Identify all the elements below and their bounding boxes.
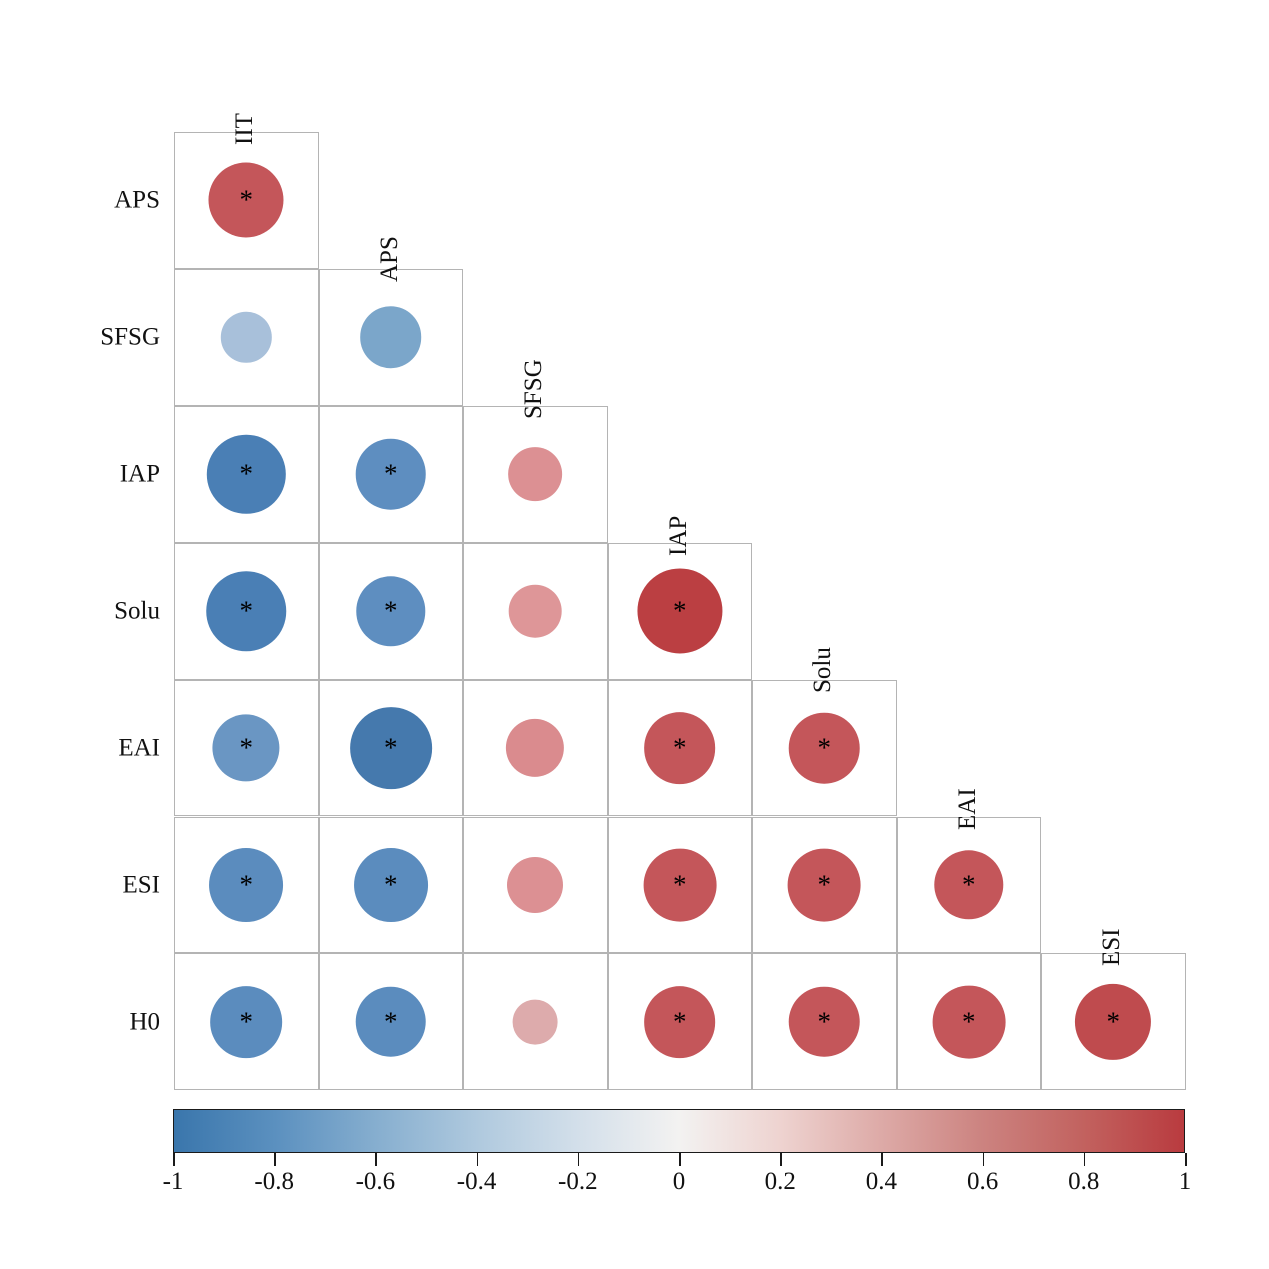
colorbar-tick-label: 0.6 — [967, 1169, 998, 1194]
colorbar-tick — [1185, 1153, 1187, 1166]
correlation-circle — [355, 987, 426, 1058]
matrix-cell[interactable]: * — [1041, 953, 1186, 1090]
correlation-circle — [788, 849, 861, 922]
colorbar-tick-label: -0.6 — [356, 1169, 396, 1194]
matrix-cell[interactable]: * — [752, 817, 897, 954]
colorbar-tick-label: -0.4 — [457, 1169, 497, 1194]
correlation-circle — [360, 307, 422, 369]
correlation-circle — [507, 857, 563, 913]
matrix-cell[interactable]: * — [608, 953, 753, 1090]
column-label-esi: ESI — [1099, 929, 1124, 967]
column-label-solu: Solu — [810, 647, 835, 693]
correlation-circle — [644, 986, 716, 1058]
matrix-cell[interactable]: * — [174, 406, 319, 543]
colorbar-tick-label: 0 — [673, 1169, 686, 1194]
matrix-cell[interactable]: * — [319, 680, 464, 817]
matrix-cell[interactable]: * — [752, 680, 897, 817]
matrix-cell[interactable]: * — [608, 680, 753, 817]
colorbar-tick — [274, 1153, 276, 1166]
correlation-circle — [509, 585, 562, 638]
correlation-circle — [789, 713, 860, 784]
correlation-circle — [209, 848, 283, 922]
correlation-circle — [207, 435, 285, 513]
matrix-cell[interactable]: * — [897, 817, 1042, 954]
matrix-cell[interactable]: * — [319, 953, 464, 1090]
row-label-solu: Solu — [114, 599, 160, 624]
matrix-cell[interactable]: * — [174, 543, 319, 680]
colorbar-tick — [578, 1153, 580, 1166]
correlation-circle — [932, 985, 1005, 1058]
colorbar-tick — [173, 1153, 175, 1166]
correlation-circle — [644, 712, 716, 784]
matrix-cell[interactable]: * — [319, 543, 464, 680]
colorbar-tick — [1084, 1153, 1086, 1166]
colorbar-tick — [375, 1153, 377, 1166]
correlation-circle — [350, 707, 432, 789]
matrix-cell[interactable]: * — [174, 953, 319, 1090]
colorbar-tick — [477, 1153, 479, 1166]
row-label-esi: ESI — [123, 872, 161, 897]
correlation-circle — [508, 447, 562, 501]
matrix-cell[interactable]: * — [897, 953, 1042, 1090]
row-label-h0: H0 — [129, 1009, 160, 1034]
matrix-cell[interactable]: * — [319, 406, 464, 543]
matrix-cell[interactable]: * — [174, 680, 319, 817]
correlation-circle — [354, 848, 428, 922]
column-label-sfsg: SFSG — [521, 359, 546, 419]
colorbar-gradient — [173, 1109, 1185, 1153]
colorbar-tick — [983, 1153, 985, 1166]
row-label-sfsg: SFSG — [100, 325, 160, 350]
row-label-eai: EAI — [118, 736, 160, 761]
correlation-circle — [506, 719, 564, 777]
colorbar-tick-label: -0.8 — [254, 1169, 294, 1194]
colorbar-tick-label: 0.8 — [1068, 1169, 1099, 1194]
column-label-eai: EAI — [955, 788, 980, 830]
colorbar-tick — [881, 1153, 883, 1166]
matrix-cell[interactable]: * — [174, 132, 319, 269]
matrix-cell[interactable]: * — [752, 953, 897, 1090]
correlation-circle — [213, 714, 280, 781]
correlation-circle — [1075, 984, 1151, 1060]
colorbar-legend: -1-0.8-0.6-0.4-0.200.20.40.60.81 — [173, 1109, 1185, 1153]
matrix-cell[interactable] — [319, 269, 464, 406]
matrix-cell[interactable]: * — [319, 817, 464, 954]
matrix-cell[interactable] — [463, 953, 608, 1090]
correlation-circle — [355, 439, 426, 510]
correlation-circle — [356, 576, 425, 645]
column-label-iit: IIT — [232, 113, 257, 145]
correlation-circle — [513, 999, 558, 1044]
matrix-cell[interactable] — [463, 543, 608, 680]
correlation-circle — [209, 163, 284, 238]
column-label-iap: IAP — [666, 515, 691, 555]
matrix-cell[interactable] — [463, 406, 608, 543]
colorbar-tick-label: 0.4 — [866, 1169, 897, 1194]
matrix-cell[interactable]: * — [608, 543, 753, 680]
colorbar-tick — [679, 1153, 681, 1166]
row-label-iap: IAP — [120, 462, 160, 487]
colorbar-tick-label: 0.2 — [765, 1169, 796, 1194]
colorbar-tick-label: -1 — [163, 1169, 184, 1194]
column-label-aps: APS — [377, 236, 402, 282]
correlation-matrix-figure: ********************* APSSFSGIAPSoluEAIE… — [0, 0, 1269, 1269]
matrix-cell[interactable]: * — [608, 817, 753, 954]
correlation-circle — [789, 987, 860, 1058]
correlation-circle — [643, 849, 716, 922]
matrix-cell[interactable] — [463, 817, 608, 954]
correlation-circle — [221, 312, 271, 362]
colorbar-tick-label: -0.2 — [558, 1169, 598, 1194]
row-label-aps: APS — [114, 188, 160, 213]
matrix-cell[interactable]: * — [174, 817, 319, 954]
matrix-cell[interactable] — [174, 269, 319, 406]
matrix-cell[interactable] — [463, 680, 608, 817]
correlation-circle — [206, 571, 286, 651]
colorbar-tick-label: 1 — [1179, 1169, 1192, 1194]
correlation-circle — [934, 850, 1003, 919]
correlation-circle — [637, 569, 722, 654]
correlation-circle — [210, 986, 282, 1058]
colorbar-tick — [780, 1153, 782, 1166]
